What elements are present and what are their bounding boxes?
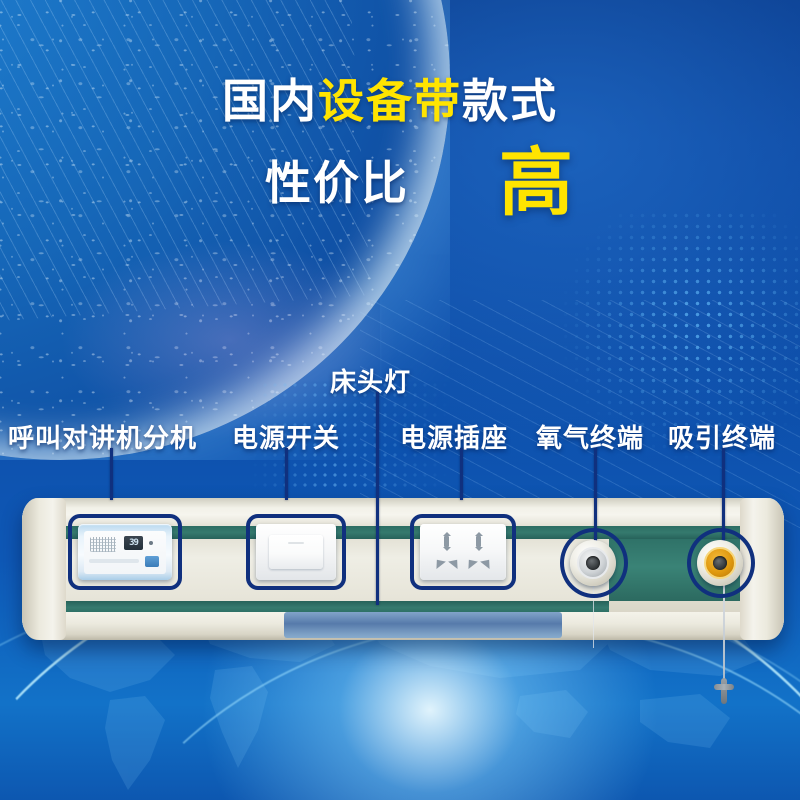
speaker-grille-icon — [90, 537, 116, 552]
socket-angled-slot-right-icon — [480, 556, 494, 569]
socket-vertical-slot-icon — [444, 536, 449, 547]
intercom-slot — [89, 559, 139, 563]
suction-terminal-port-icon — [713, 556, 727, 570]
outlet-faceplate — [431, 534, 495, 570]
socket-vertical-slot-icon — [476, 536, 481, 547]
leader-line-power-outlet — [460, 448, 463, 500]
socket-angled-slot-left-icon — [432, 556, 446, 569]
leader-line-suction-outlet — [722, 448, 725, 544]
oxygen-terminal-port-icon — [586, 556, 600, 570]
call-intercom-device[interactable]: 39 — [78, 524, 172, 580]
power-switch-device[interactable] — [256, 524, 336, 580]
intercom-call-button[interactable] — [145, 556, 159, 567]
intercom-display: 39 — [124, 536, 143, 550]
callout-label-oxygen-outlet: 氧气终端 — [536, 418, 644, 455]
status-led-icon — [149, 541, 153, 545]
intercom-faceplate: 39 — [84, 531, 166, 574]
socket-icon-right[interactable] — [465, 534, 493, 568]
leader-line-bedside-lamp — [376, 392, 379, 605]
callout-layer: 呼叫对讲机分机 电源开关 床头灯 电源插座 氧气终端 吸引终端 — [0, 0, 800, 800]
suction-terminal[interactable] — [697, 540, 743, 586]
socket-angled-slot-left-icon — [464, 556, 478, 569]
rocker-indicator-mark — [288, 542, 304, 544]
leader-line-power-switch — [285, 448, 288, 500]
socket-angled-slot-right-icon — [448, 556, 462, 569]
oxygen-terminal[interactable] — [570, 540, 616, 586]
leader-line-call-intercom — [110, 448, 113, 500]
socket-icon-left[interactable] — [433, 534, 461, 568]
callout-label-bedside-lamp: 床头灯 — [330, 362, 411, 399]
leader-line-oxygen-outlet — [594, 448, 597, 544]
callout-label-power-outlet: 电源插座 — [400, 418, 508, 455]
rocker-switch[interactable] — [269, 535, 323, 569]
callout-label-call-intercom: 呼叫对讲机分机 — [8, 418, 197, 455]
power-outlet-device[interactable] — [420, 524, 506, 580]
